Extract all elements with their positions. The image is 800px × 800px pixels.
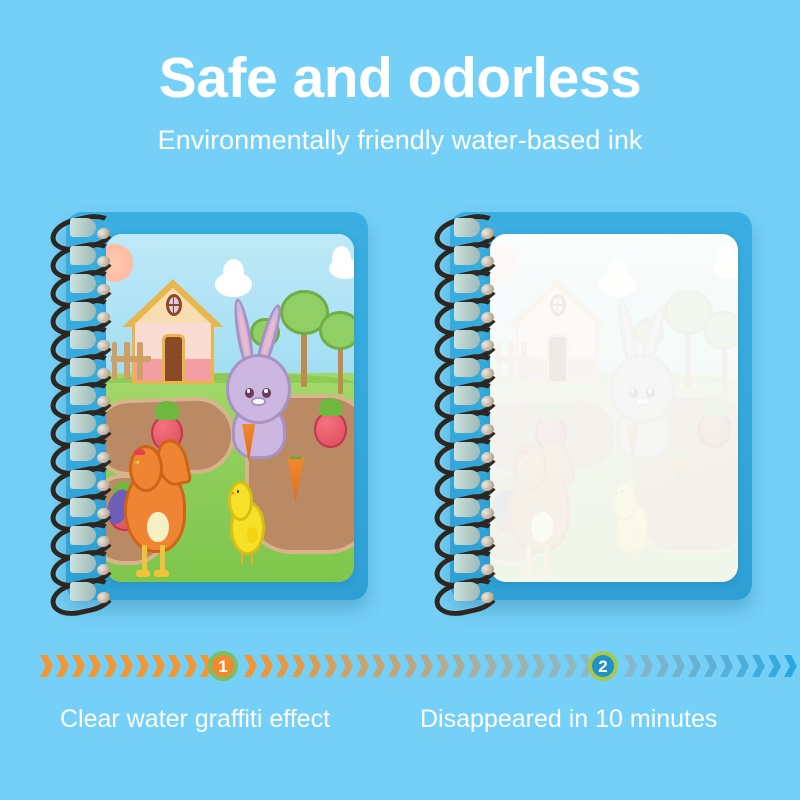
chevron-icon [308,655,321,677]
progress-arrow-strip: 1 2 [40,648,780,684]
rooster-character [121,425,203,564]
chevron-icon [340,655,353,677]
chevron-run-middle [244,648,612,684]
chevron-icon [704,655,717,677]
chevron-icon [452,655,465,677]
chevron-icon [784,655,797,677]
tree-icon [319,311,354,395]
chevron-icon [104,655,117,677]
step-marker-1[interactable]: 1 [208,651,238,681]
chevron-icon [244,655,257,677]
chevron-icon [436,655,449,677]
cloud-icon [713,258,738,279]
chevron-icon [564,655,577,677]
chevron-run-end [624,648,800,684]
notebook-left [48,212,368,600]
notebook-right [432,212,752,600]
notebook-page-colored [106,234,354,582]
spiral-binding [432,216,506,608]
tree-icon [703,311,738,395]
chevron-icon [548,655,561,677]
chevron-icon [136,655,149,677]
chevron-icon [656,655,669,677]
bunny-character [602,307,684,453]
step-marker-2[interactable]: 2 [588,651,618,681]
chevron-icon [532,655,545,677]
rooster-character [505,425,587,564]
chevron-icon [484,655,497,677]
cloud-icon [215,272,252,296]
page-title: Safe and odorless [0,50,800,107]
chevron-icon [120,655,133,677]
chevron-icon [516,655,529,677]
chevron-icon [640,655,653,677]
bunny-character [218,307,300,453]
chevron-icon [768,655,781,677]
notebook-page-faded [490,234,738,582]
radish-icon [698,411,730,447]
page-subtitle: Environmentally friendly water-based ink [0,127,800,154]
chevron-icon [260,655,273,677]
radish-icon [314,411,346,447]
chick-character [612,481,654,558]
chevron-icon [372,655,385,677]
chevron-icon [404,655,417,677]
chevron-icon [388,655,401,677]
chevron-icon [72,655,85,677]
chevron-icon [152,655,165,677]
cloud-icon [599,272,636,296]
caption-right: Disappeared in 10 minutes [420,707,717,732]
chevron-icon [88,655,101,677]
spiral-binding [48,216,122,608]
chevron-icon [420,655,433,677]
chevron-icon [324,655,337,677]
chevron-icon [736,655,749,677]
chevron-run-start [40,648,232,684]
chevron-icon [468,655,481,677]
chevron-icon [168,655,181,677]
chevron-icon [688,655,701,677]
chevron-icon [624,655,637,677]
poster-canvas: Safe and odorless Environmentally friend… [0,0,800,800]
chevron-icon [184,655,197,677]
cloud-icon [329,258,354,279]
step-marker-2-label: 2 [598,658,607,675]
chevron-icon [500,655,513,677]
chevron-icon [672,655,685,677]
farm-scene-illustration-faded [490,234,738,582]
chevron-icon [292,655,305,677]
farm-scene-illustration [106,234,354,582]
chevron-icon [720,655,733,677]
chick-character [228,481,270,558]
chevron-icon [56,655,69,677]
caption-left: Clear water graffiti effect [60,707,330,732]
chevron-icon [276,655,289,677]
chevron-icon [40,655,53,677]
chevron-icon [752,655,765,677]
step-marker-1-label: 1 [218,658,227,675]
chevron-icon [356,655,369,677]
